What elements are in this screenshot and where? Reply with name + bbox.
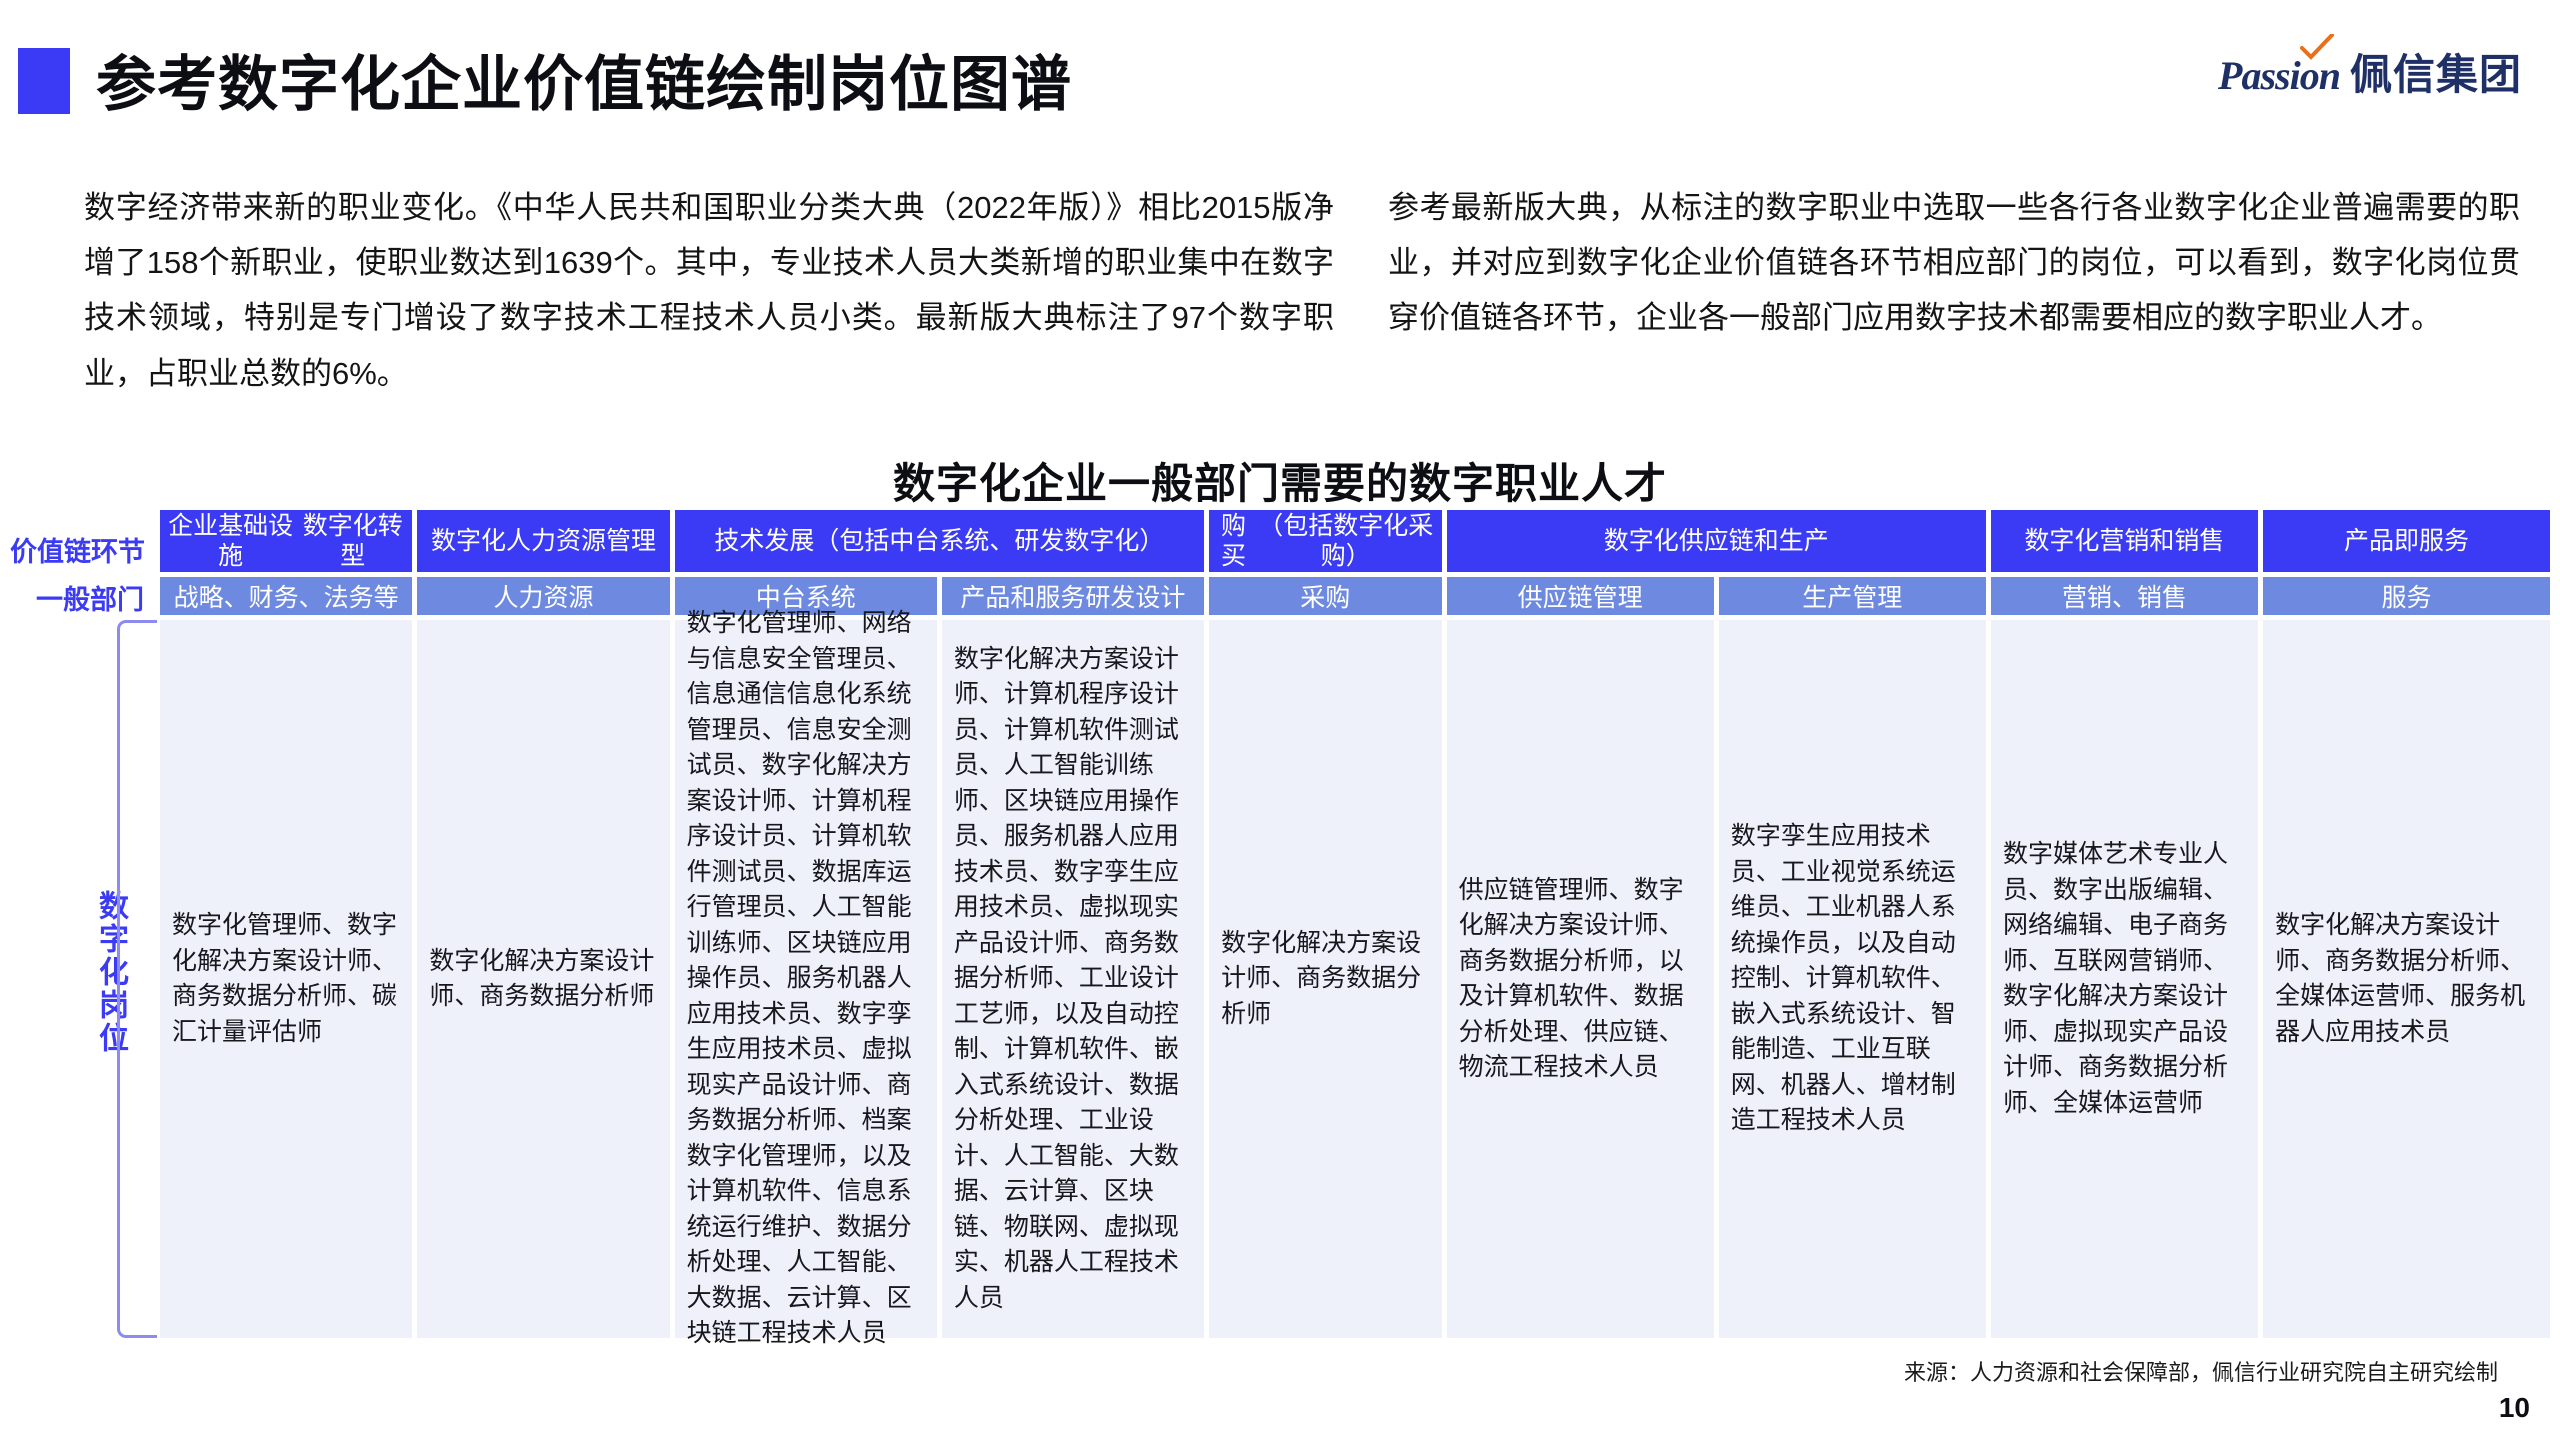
positions-cell-rnd: 数字化解决方案设计师、计算机程序设计员、计算机软件测试员、人工智能训练师、区块链…: [942, 620, 1204, 1338]
positions-cell-sales: 数字媒体艺术专业人员、数字出版编辑、网络编辑、电子商务师、互联网营销师、数字化解…: [1991, 620, 2258, 1338]
chain-cell-infrastructure[interactable]: 企业基础设施数字化转型: [160, 510, 412, 572]
logo-chinese-label: 佩信集团: [2350, 54, 2522, 96]
value-chain-matrix: 企业基础设施数字化转型 数字化人力资源管理 技术发展（包括中台系统、研发数字化）…: [160, 510, 2550, 1340]
chart-heading: 数字化企业一般部门需要的数字职业人才: [0, 450, 2560, 511]
chain-cell-marketing[interactable]: 数字化营销和销售: [1991, 510, 2258, 572]
dept-cell-rnd[interactable]: 产品和服务研发设计: [942, 577, 1204, 615]
value-chain-header-row: 企业基础设施数字化转型 数字化人力资源管理 技术发展（包括中台系统、研发数字化）…: [160, 510, 2550, 572]
dept-cell-supply-chain[interactable]: 供应链管理: [1447, 577, 1714, 615]
dept-cell-production[interactable]: 生产管理: [1719, 577, 1986, 615]
slide-header: 参考数字化企业价值链绘制岗位图谱 Passion 佩信集团: [0, 38, 2560, 124]
axis-label-department: 一般部门: [36, 578, 144, 617]
intro-paragraph-left: 数字经济带来新的职业变化。《中华人民共和国职业分类大典（2022年版）》相比20…: [84, 180, 1334, 401]
positions-cell-production: 数字孪生应用技术员、工业视觉系统运维员、工业机器人系统操作员，以及自动控制、计算…: [1719, 620, 1986, 1338]
chain-cell-technology[interactable]: 技术发展（包括中台系统、研发数字化）: [675, 510, 1204, 572]
check-mark-icon: [2300, 34, 2334, 60]
dept-cell-hr[interactable]: 人力资源: [417, 577, 669, 615]
slide: 参考数字化企业价值链绘制岗位图谱 Passion 佩信集团 数字经济带来新的职业…: [0, 0, 2560, 1440]
positions-cell-strategy: 数字化管理师、数字化解决方案设计师、商务数据分析师、碳汇计量评估师: [160, 620, 412, 1338]
positions-cell-service: 数字化解决方案设计师、商务数据分析师、全媒体运营师、服务机器人应用技术员: [2263, 620, 2550, 1338]
page-number: 10: [2499, 1392, 2530, 1424]
intro-paragraph-right: 参考最新版大典，从标注的数字职业中选取一些各行各业数字化企业普遍需要的职业，并对…: [1388, 180, 2520, 346]
chain-cell-procurement[interactable]: 购买（包括数字化采购）: [1209, 510, 1442, 572]
title-accent-bar: [18, 48, 70, 114]
dept-cell-strategy[interactable]: 战略、财务、法务等: [160, 577, 412, 615]
dept-cell-purchasing[interactable]: 采购: [1209, 577, 1442, 615]
page-title: 参考数字化企业价值链绘制岗位图谱: [96, 36, 1072, 123]
dept-cell-service[interactable]: 服务: [2263, 577, 2550, 615]
axis-label-value-chain: 价值链环节: [10, 530, 145, 569]
company-logo: Passion 佩信集团: [2218, 54, 2522, 96]
chain-cell-paas[interactable]: 产品即服务: [2263, 510, 2550, 572]
digital-positions-row: 数字化管理师、数字化解决方案设计师、商务数据分析师、碳汇计量评估师 数字化解决方…: [160, 620, 2550, 1338]
positions-cell-supply-chain: 供应链管理师、数字化解决方案设计师、商务数据分析师，以及计算机软件、数据分析处理…: [1447, 620, 1714, 1338]
logo-script-text: Passion: [2218, 56, 2340, 96]
positions-cell-purchasing: 数字化解决方案设计师、商务数据分析师: [1209, 620, 1442, 1338]
department-header-row: 战略、财务、法务等 人力资源 中台系统 产品和服务研发设计 采购 供应链管理 生…: [160, 577, 2550, 615]
chain-cell-hr[interactable]: 数字化人力资源管理: [417, 510, 669, 572]
positions-cell-hr: 数字化解决方案设计师、商务数据分析师: [417, 620, 669, 1338]
positions-bracket: [117, 620, 157, 1338]
positions-cell-midplatform: 数字化管理师、网络与信息安全管理员、信息通信信息化系统管理员、信息安全测试员、数…: [675, 620, 937, 1338]
source-note: 来源：人力资源和社会保障部，佩信行业研究院自主研究绘制: [1904, 1355, 2498, 1387]
chain-cell-supply-chain[interactable]: 数字化供应链和生产: [1447, 510, 1986, 572]
dept-cell-sales[interactable]: 营销、销售: [1991, 577, 2258, 615]
